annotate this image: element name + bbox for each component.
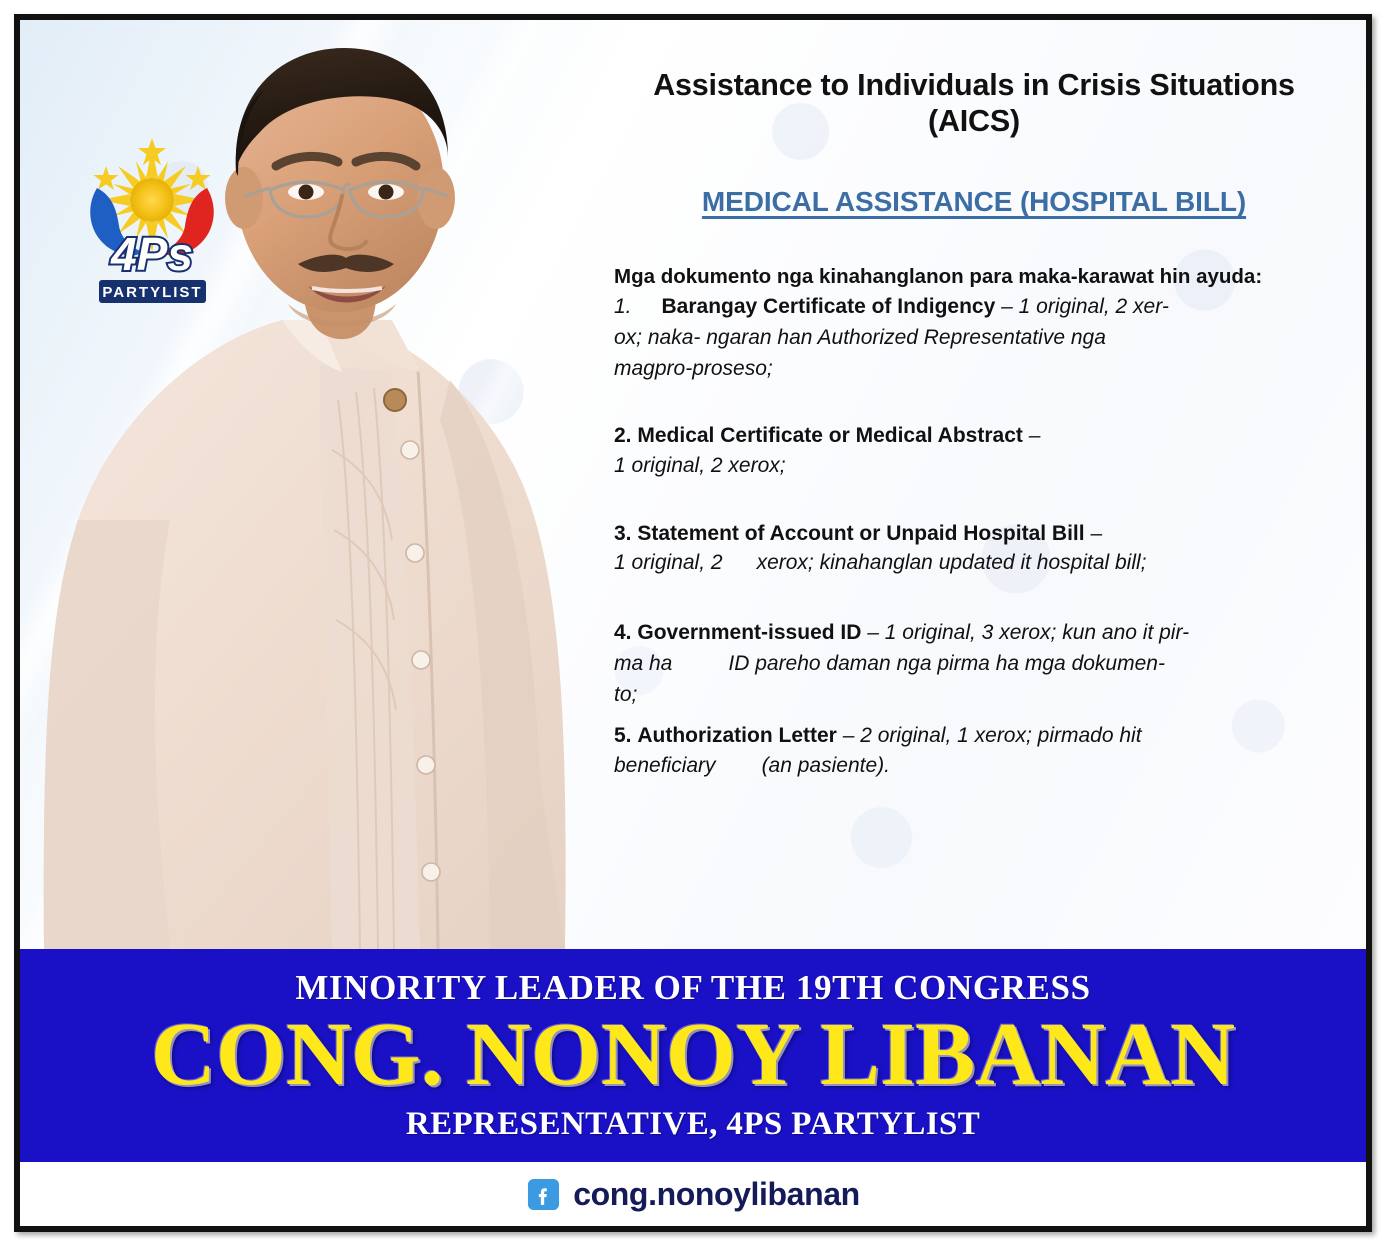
requirement-5-number: 5.: [614, 724, 632, 747]
requirement-item-5: 5. Authorization Letter – 2 original, 1 …: [614, 721, 1346, 781]
logo-4ps-text: 4Ps: [110, 228, 193, 280]
requirement-5-detail-line1: 2 original, 1 xerox; pirmado hit: [860, 724, 1141, 747]
banner-subtitle-representative: REPRESENTATIVE, 4PS PARTYLIST: [406, 1106, 980, 1143]
requirement-item-4: 4. Government-issued ID – 1 original, 3 …: [614, 618, 1346, 711]
requirement-5-dash: –: [843, 724, 855, 747]
requirement-5-detail-line2a: beneficiary: [614, 754, 716, 777]
requirement-4-detail-line2b: ID pareho daman nga pirma ha mga dokumen…: [728, 652, 1165, 675]
banner-title-minority-leader: MINORITY LEADER OF THE 19TH CONGRESS: [295, 968, 1090, 1008]
facebook-footer[interactable]: cong.nonoylibanan: [20, 1162, 1366, 1226]
logo-4ps-partylist: 4Ps PARTYLIST: [75, 128, 230, 313]
requirement-item-1: 1.Barangay Certificate of Indigency – 1 …: [614, 292, 1346, 385]
requirement-3-detail-line1: 1 original, 2: [614, 551, 723, 574]
requirement-1-dash: –: [1001, 295, 1013, 318]
section-title-medical-assistance: MEDICAL ASSISTANCE (HOSPITAL BILL): [602, 186, 1346, 218]
sun-disc-icon: [130, 178, 174, 222]
requirement-1-detail-line3: magpro-proseso;: [682, 354, 1346, 385]
requirement-5-detail-line2b: (an pasiente).: [762, 754, 890, 777]
requirement-1-name: Barangay Certificate of Indigency: [662, 295, 996, 318]
content-area: 4Ps PARTYLIST Assistance to Individuals …: [20, 20, 1366, 949]
requirement-4-name: Government-issued ID: [637, 621, 861, 644]
name-banner: MINORITY LEADER OF THE 19TH CONGRESS CON…: [20, 949, 1366, 1162]
requirement-4-detail-line2a: ma ha: [614, 652, 672, 675]
program-title-line1: Assistance to Individuals in Crisis Situ…: [653, 68, 1295, 102]
logo-partylist-text: PARTYLIST: [102, 284, 202, 301]
requirement-3-dash: –: [1090, 522, 1102, 545]
requirement-1-number: 1.: [614, 295, 632, 318]
program-title: Assistance to Individuals in Crisis Situ…: [602, 68, 1346, 139]
program-title-line2: (AICS): [602, 104, 1346, 140]
requirement-item-3: 3. Statement of Account or Unpaid Hospit…: [614, 519, 1346, 579]
requirement-5-name: Authorization Letter: [637, 724, 837, 747]
facebook-icon[interactable]: [526, 1177, 561, 1212]
requirement-3-number: 3.: [614, 522, 632, 545]
poster-frame: 4Ps PARTYLIST Assistance to Individuals …: [14, 14, 1372, 1232]
requirement-2-dash: –: [1029, 424, 1041, 447]
requirement-3-detail-line1b: xerox; kinahanglan updated it hospital b…: [757, 551, 1147, 574]
requirements-intro: Mga dokumento nga kinahanglanon para mak…: [614, 263, 1334, 290]
requirement-1-detail-line1: 1 original, 2 xer-: [1019, 295, 1169, 318]
requirement-4-detail-line1: 1 original, 3 xerox; kun ano it pir-: [885, 621, 1189, 644]
requirement-4-number: 4.: [614, 621, 632, 644]
facebook-handle-text[interactable]: cong.nonoylibanan: [573, 1176, 860, 1213]
requirement-4-detail-line3: to;: [640, 680, 1346, 711]
requirement-item-2: 2. Medical Certificate or Medical Abstra…: [614, 421, 1346, 481]
requirements-text-column: Assistance to Individuals in Crisis Situ…: [588, 20, 1366, 949]
poster-root: 4Ps PARTYLIST Assistance to Individuals …: [0, 0, 1389, 1248]
requirement-2-name: Medical Certificate or Medical Abstract: [637, 424, 1023, 447]
requirement-1-detail-line2: ox; naka- ngaran han Authorized Represen…: [682, 323, 1346, 354]
requirement-2-number: 2.: [614, 424, 632, 447]
requirement-3-name: Statement of Account or Unpaid Hospital …: [637, 522, 1084, 545]
requirements-list: 1.Barangay Certificate of Indigency – 1 …: [602, 292, 1346, 780]
requirement-2-detail-line1: 1 original, 2 xerox;: [614, 451, 1346, 481]
banner-congressman-name: CONG. NONOY LIBANAN: [151, 1010, 1235, 1100]
requirement-4-dash: –: [867, 621, 879, 644]
